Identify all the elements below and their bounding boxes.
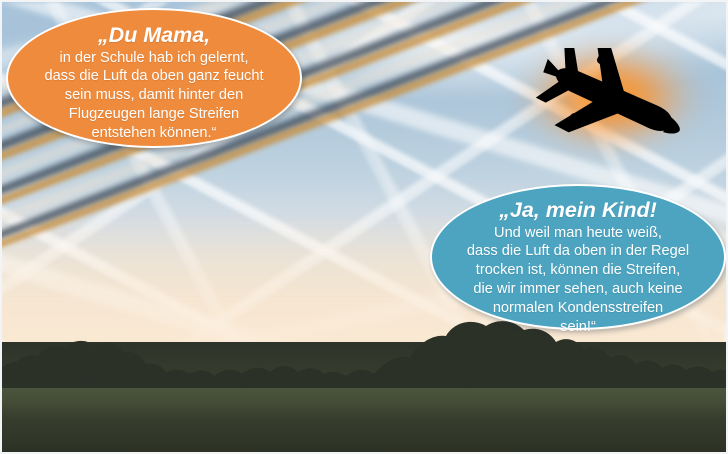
mother-line-1: Und weil man heute weiß,	[452, 224, 704, 243]
field-highlight	[2, 388, 726, 418]
speech-bubble-mother-lead: „Ja, mein Kind!	[452, 198, 704, 223]
airplane-icon	[536, 48, 686, 152]
child-line-3: sein muss, damit hinter den	[30, 86, 278, 105]
mother-line-6: sein!“	[452, 318, 704, 337]
mother-line-5: normalen Kondensstreifen	[452, 299, 704, 318]
child-line-1: in der Schule hab ich gelernt,	[30, 49, 278, 68]
speech-bubble-child-body: in der Schule hab ich gelernt, dass die …	[30, 49, 278, 144]
child-line-5: entstehen können.“	[30, 124, 278, 143]
scene-illustration: „Du Mama, in der Schule hab ich gelernt,…	[0, 0, 728, 454]
speech-bubble-child-lead: „Du Mama,	[30, 23, 278, 48]
speech-bubble-mother: „Ja, mein Kind! Und weil man heute weiß,…	[430, 184, 726, 330]
mother-line-3: trocken ist, können die Streifen,	[452, 261, 704, 280]
child-line-4: Flugzeugen lange Streifen	[30, 105, 278, 124]
mother-line-4: die wir immer sehen, auch keine	[452, 280, 704, 299]
airplane-group	[500, 28, 720, 168]
speech-bubble-child: „Du Mama, in der Schule hab ich gelernt,…	[6, 8, 302, 148]
mother-line-2: dass die Luft da oben in der Regel	[452, 242, 704, 261]
child-line-2: dass die Luft da oben ganz feucht	[30, 67, 278, 86]
speech-bubble-mother-body: Und weil man heute weiß, dass die Luft d…	[452, 224, 704, 338]
